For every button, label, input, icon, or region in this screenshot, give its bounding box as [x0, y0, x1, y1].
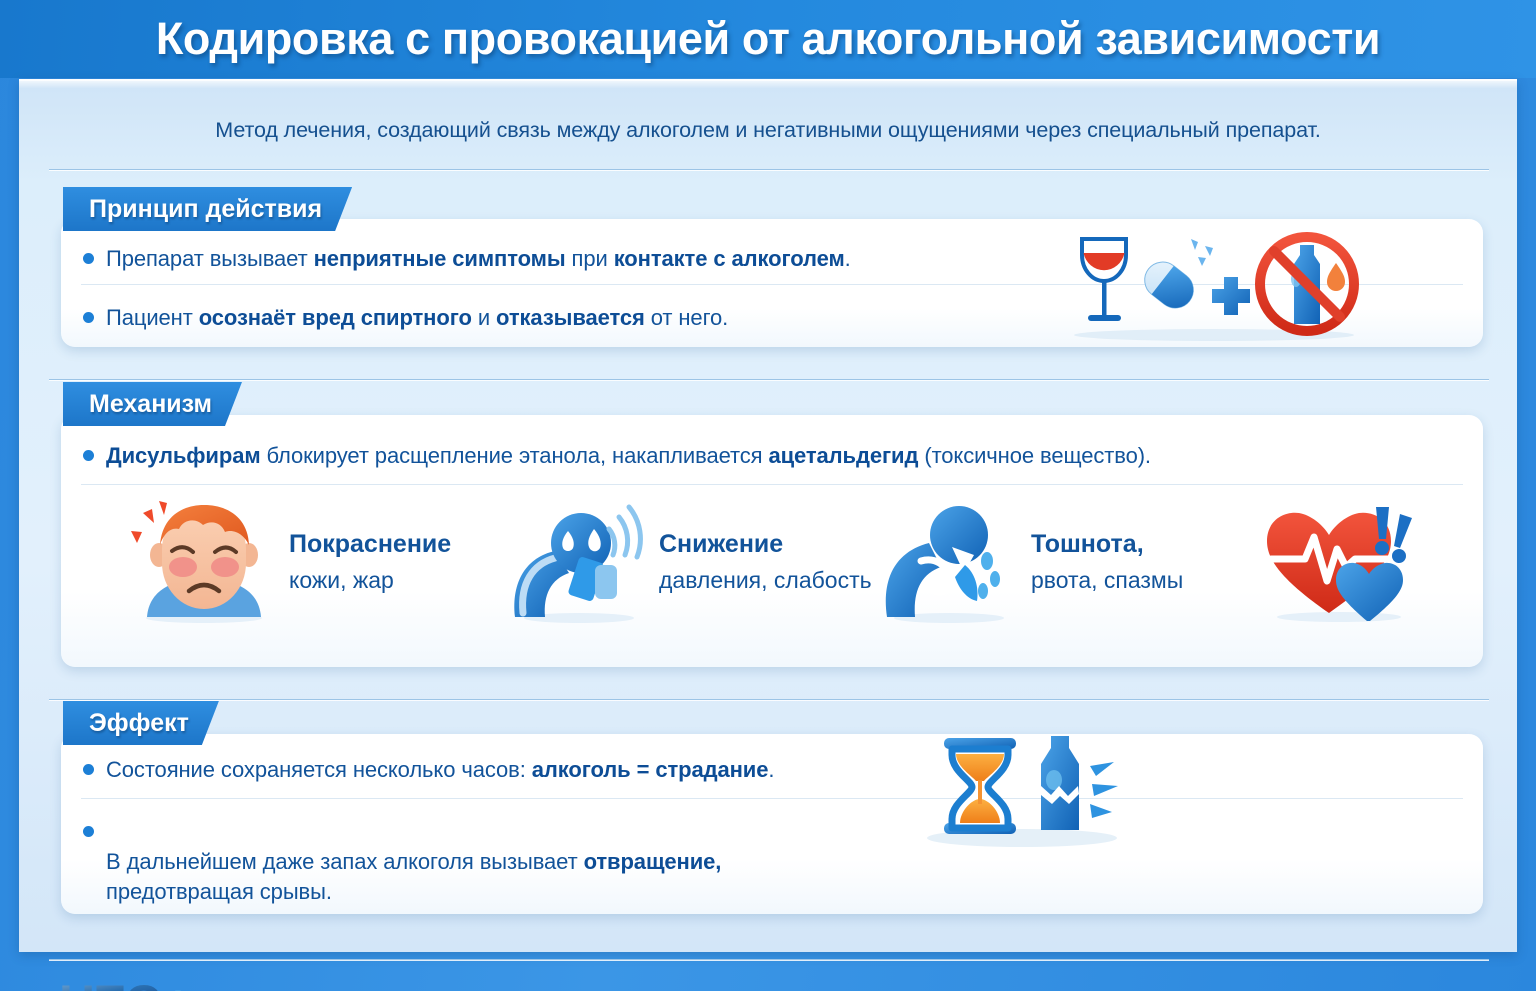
section-tag-principle: Принцип действия	[63, 187, 352, 231]
wine-glass-icon	[1082, 239, 1126, 321]
section-tag-effect: Эффект	[63, 701, 219, 745]
symptom-item-2: Снижение давления, слабость	[509, 499, 872, 624]
panel-sheen	[19, 79, 1517, 88]
bullet-text: Пациент осознаёт вред спиртного и отказы…	[106, 303, 728, 333]
bullet-dot	[83, 253, 94, 264]
bullet-mechanism-1: Дисульфирам блокирует расщепление этанол…	[83, 441, 1423, 471]
bullet-dot	[83, 450, 94, 461]
intro-text: Метод лечения, создающий связь между алк…	[19, 118, 1517, 143]
section-tag-mechanism: Механизм	[63, 382, 242, 426]
effect-illustration	[914, 724, 1134, 849]
symptom-item-1: Покраснение кожи, жар	[129, 499, 451, 624]
symptom-label-3: Тошнота, рвота, спазмы	[1031, 526, 1183, 598]
dizzy-person-icon	[509, 499, 649, 624]
page-title: Кодировка с провокацией от алкогольной з…	[156, 13, 1380, 65]
bullet-text: Препарат вызывает неприятные симптомы пр…	[106, 244, 851, 274]
splash-droplets-icon	[1191, 239, 1213, 266]
symptom-label-2: Снижение давления, слабость	[659, 526, 872, 598]
logo-plus-icon: +	[163, 974, 190, 991]
divider-mechanism	[49, 379, 1489, 380]
divider-bottom	[49, 959, 1489, 960]
symptom-item-3: Тошнота, рвота, спазмы	[881, 499, 1183, 624]
bullet-effect-1: Состояние сохраняется несколько часов: а…	[83, 755, 923, 785]
logo-word: НЕО	[59, 974, 161, 991]
plus-icon	[1212, 277, 1250, 315]
principle-illustration	[1064, 227, 1364, 342]
symptom-item-4	[1259, 501, 1429, 626]
card-divider-mechanism	[81, 484, 1463, 485]
divider-effect	[49, 699, 1489, 700]
brand-logo: НЕО +	[59, 974, 191, 991]
card-divider-effect	[81, 798, 1463, 799]
content-panel: Метод лечения, создающий связь между алк…	[19, 79, 1517, 952]
no-alcohol-prohibition-icon	[1260, 237, 1354, 331]
poster-header: Кодировка с провокацией от алкогольной з…	[0, 0, 1536, 78]
broken-bottle-icon	[1041, 736, 1079, 830]
bullet-text: Состояние сохраняется несколько часов: а…	[106, 755, 774, 785]
heartbeat-icon	[1259, 501, 1429, 626]
bullet-dot	[83, 826, 94, 837]
symptom-label-1: Покраснение кожи, жар	[289, 526, 451, 598]
bullet-text: Дисульфирам блокирует расщепление этанол…	[106, 441, 1151, 471]
infographic-poster: Кодировка с провокацией от алкогольной з…	[0, 0, 1536, 991]
shatter-marks-icon	[1090, 762, 1118, 818]
bullet-effect-2: В дальнейшем даже запах алкоголя вызывае…	[83, 817, 923, 907]
capsule-pill-icon	[1137, 255, 1200, 315]
bullet-text: В дальнейшем даже запах алкоголя вызывае…	[106, 817, 721, 907]
bullet-principle-1: Препарат вызывает неприятные симптомы пр…	[83, 244, 983, 274]
hourglass-icon	[944, 738, 1016, 834]
bullet-dot	[83, 764, 94, 775]
vomiting-person-icon	[881, 499, 1021, 624]
bullet-dot	[83, 312, 94, 323]
bullet-principle-2: Пациент осознаёт вред спиртного и отказы…	[83, 303, 983, 333]
divider-top	[49, 169, 1489, 170]
flushed-face-icon	[129, 499, 279, 624]
